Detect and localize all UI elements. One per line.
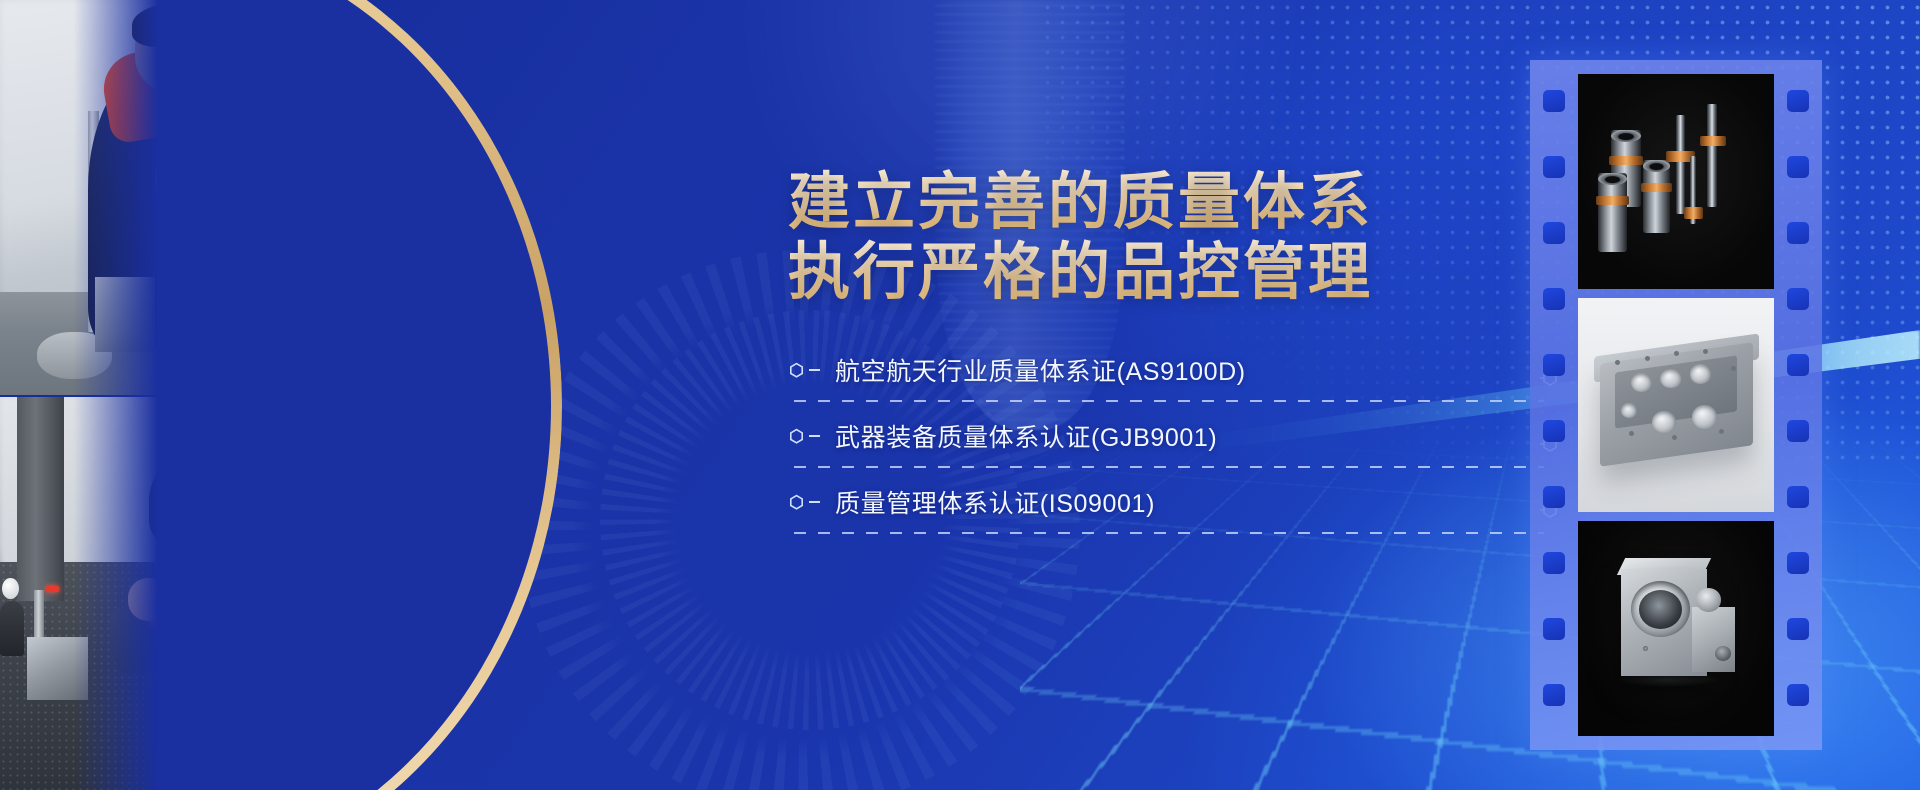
quality-system-banner: 建立完善的质量体系 执行严格的品控管理 航空航天行业质量体系证(AS9100D) — [0, 0, 1920, 790]
filmstrip-perforation — [1543, 486, 1565, 508]
filmstrip-perforation — [1787, 618, 1809, 640]
filmstrip-perforation — [1543, 222, 1565, 244]
filmstrip-perforation — [1787, 486, 1809, 508]
product-photo-aluminum-bearing-block — [1578, 521, 1774, 736]
filmstrip-perforation — [1543, 684, 1565, 706]
filmstrip-perforation — [1787, 156, 1809, 178]
hexagon-bullet-icon — [788, 428, 820, 445]
headline-line-1: 建立完善的质量体系 — [788, 168, 1448, 238]
dashed-separator — [794, 466, 1544, 468]
certification-label: 质量管理体系认证(IS09001) — [835, 484, 1155, 520]
filmstrip-perforation — [1543, 618, 1565, 640]
filmstrip-perforation — [1787, 684, 1809, 706]
filmstrip-perforation — [1543, 420, 1565, 442]
list-item: 武器装备质量体系认证(GJB9001) — [788, 418, 1448, 468]
filmstrip-perforation — [1787, 90, 1809, 112]
dashed-separator — [794, 532, 1544, 534]
certification-label: 航空航天行业质量体系证(AS9100D) — [835, 352, 1246, 388]
hexagon-bullet-icon — [788, 362, 820, 379]
hexagon-bullet-icon — [788, 494, 820, 511]
photo-operator-machine-tablet — [340, 397, 700, 790]
headline-line-2: 执行严格的品控管理 — [788, 238, 1448, 308]
page-title: 建立完善的质量体系 执行严格的品控管理 — [788, 168, 1448, 308]
photo-collage — [0, 0, 700, 790]
filmstrip-perforation — [1543, 552, 1565, 574]
filmstrip-perforation — [1787, 420, 1809, 442]
photo-operator-parts-tray — [340, 0, 700, 395]
photo-cmm-operator-joystick — [0, 397, 338, 790]
certification-label: 武器装备质量体系认证(GJB9001) — [835, 418, 1217, 454]
product-photo-machined-aluminum-housing — [1578, 298, 1774, 513]
filmstrip-perforation — [1787, 354, 1809, 376]
filmstrip-perforation — [1787, 288, 1809, 310]
filmstrip-perforation — [1787, 552, 1809, 574]
filmstrip-perforation — [1543, 90, 1565, 112]
headline-block: 建立完善的质量体系 执行严格的品控管理 航空航天行业质量体系证(AS9100D) — [788, 168, 1448, 550]
product-filmstrip — [1530, 60, 1822, 750]
list-item: 质量管理体系认证(IS09001) — [788, 484, 1448, 534]
list-item: 航空航天行业质量体系证(AS9100D) — [788, 352, 1448, 402]
filmstrip-perforation — [1543, 288, 1565, 310]
certification-list: 航空航天行业质量体系证(AS9100D) — [788, 352, 1448, 534]
filmstrip-perforation — [1543, 354, 1565, 376]
photo-inspector-height-gauge — [0, 0, 338, 395]
dashed-separator — [794, 400, 1544, 402]
filmstrip-perforation — [1787, 222, 1809, 244]
product-photo-precision-cylindrical-parts — [1578, 74, 1774, 289]
filmstrip-perforation — [1543, 156, 1565, 178]
